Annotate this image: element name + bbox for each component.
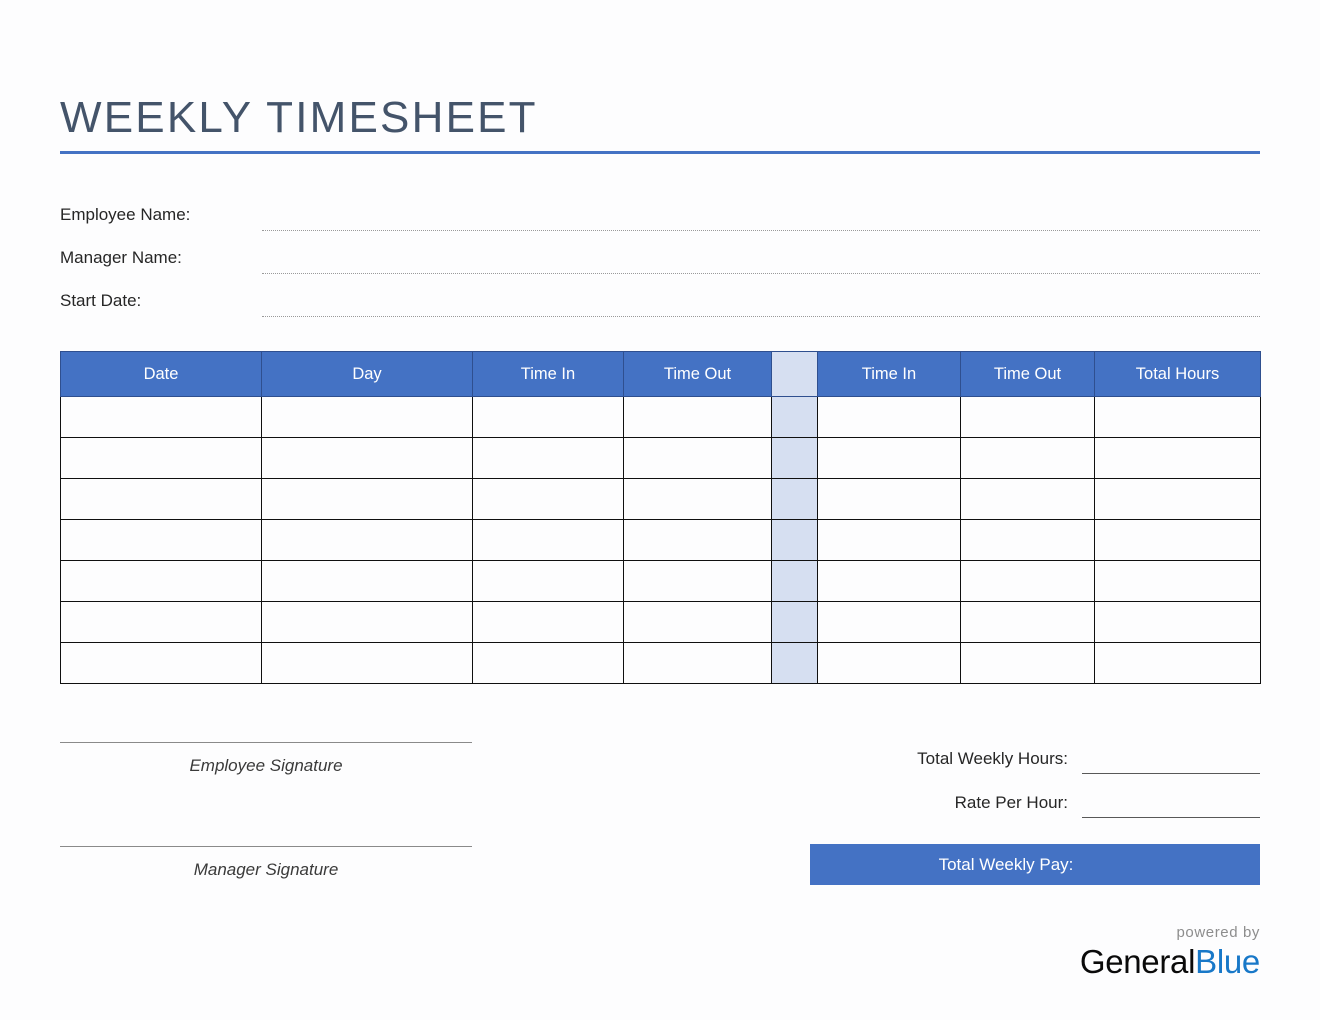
title-divider bbox=[60, 151, 1260, 154]
cell-time-in-1[interactable] bbox=[473, 602, 624, 643]
cell-day[interactable] bbox=[262, 397, 473, 438]
cell-time-out-2[interactable] bbox=[961, 561, 1095, 602]
cell-time-in-1[interactable] bbox=[473, 397, 624, 438]
employee-name-label: Employee Name: bbox=[60, 205, 262, 231]
cell-spacer bbox=[772, 479, 818, 520]
cell-time-out-2[interactable] bbox=[961, 520, 1095, 561]
cell-day[interactable] bbox=[262, 479, 473, 520]
total-weekly-hours-label: Total Weekly Hours: bbox=[917, 749, 1082, 774]
cell-time-out-2[interactable] bbox=[961, 438, 1095, 479]
column-header-time-in-1[interactable]: Time In bbox=[473, 352, 624, 397]
cell-time-in-2[interactable] bbox=[818, 520, 961, 561]
timesheet-table: Date Day Time In Time Out Time In Time O… bbox=[60, 351, 1261, 684]
column-header-time-out-1[interactable]: Time Out bbox=[624, 352, 772, 397]
rate-per-hour-label: Rate Per Hour: bbox=[955, 793, 1082, 818]
cell-date[interactable] bbox=[61, 602, 262, 643]
cell-day[interactable] bbox=[262, 602, 473, 643]
timesheet-table-container: Date Day Time In Time Out Time In Time O… bbox=[60, 351, 1260, 684]
info-row-start-date: Start Date: bbox=[60, 274, 1260, 317]
cell-date[interactable] bbox=[61, 561, 262, 602]
cell-time-in-2[interactable] bbox=[818, 397, 961, 438]
brand-name-general: General bbox=[1080, 943, 1195, 980]
cell-time-out-1[interactable] bbox=[624, 438, 772, 479]
table-row bbox=[61, 643, 1261, 684]
total-weekly-pay-bar[interactable]: Total Weekly Pay: bbox=[810, 844, 1260, 885]
table-row bbox=[61, 438, 1261, 479]
info-row-employee-name: Employee Name: bbox=[60, 188, 1260, 231]
manager-name-input[interactable] bbox=[262, 249, 1260, 274]
cell-date[interactable] bbox=[61, 479, 262, 520]
brand-name-blue: Blue bbox=[1195, 943, 1260, 980]
cell-spacer bbox=[772, 520, 818, 561]
table-header-row: Date Day Time In Time Out Time In Time O… bbox=[61, 352, 1261, 397]
column-header-time-in-2[interactable]: Time In bbox=[818, 352, 961, 397]
table-row bbox=[61, 397, 1261, 438]
employee-name-input[interactable] bbox=[262, 206, 1260, 231]
cell-total-hours[interactable] bbox=[1095, 397, 1261, 438]
start-date-label: Start Date: bbox=[60, 291, 262, 317]
document-header: WEEKLY TIMESHEET bbox=[60, 0, 1260, 154]
totals-section: Total Weekly Hours: Rate Per Hour: Total… bbox=[806, 730, 1260, 885]
cell-time-out-2[interactable] bbox=[961, 479, 1095, 520]
cell-spacer bbox=[772, 438, 818, 479]
cell-date[interactable] bbox=[61, 397, 262, 438]
cell-spacer bbox=[772, 397, 818, 438]
employee-signature-label: Employee Signature bbox=[60, 756, 472, 776]
timesheet-page: WEEKLY TIMESHEET Employee Name: Manager … bbox=[0, 0, 1320, 1020]
manager-signature-group: Manager Signature bbox=[60, 846, 472, 880]
cell-day[interactable] bbox=[262, 561, 473, 602]
column-header-date[interactable]: Date bbox=[61, 352, 262, 397]
cell-time-in-2[interactable] bbox=[818, 643, 961, 684]
manager-name-label: Manager Name: bbox=[60, 248, 262, 274]
column-header-day[interactable]: Day bbox=[262, 352, 473, 397]
start-date-input[interactable] bbox=[262, 292, 1260, 317]
cell-day[interactable] bbox=[262, 438, 473, 479]
column-header-time-out-2[interactable]: Time Out bbox=[961, 352, 1095, 397]
cell-time-in-1[interactable] bbox=[473, 438, 624, 479]
signatures-section: Employee Signature Manager Signature bbox=[60, 730, 472, 880]
cell-time-out-1[interactable] bbox=[624, 520, 772, 561]
footer-section: Employee Signature Manager Signature Tot… bbox=[60, 730, 1260, 885]
cell-time-in-2[interactable] bbox=[818, 602, 961, 643]
employee-signature-input[interactable] bbox=[60, 742, 472, 743]
column-header-spacer bbox=[772, 352, 818, 397]
cell-time-out-2[interactable] bbox=[961, 602, 1095, 643]
cell-total-hours[interactable] bbox=[1095, 438, 1261, 479]
generalblue-wordmark: GeneralBlue bbox=[1080, 945, 1260, 978]
total-weekly-hours-input[interactable] bbox=[1082, 751, 1260, 774]
cell-day[interactable] bbox=[262, 520, 473, 561]
cell-total-hours[interactable] bbox=[1095, 520, 1261, 561]
info-row-manager-name: Manager Name: bbox=[60, 231, 1260, 274]
cell-time-out-1[interactable] bbox=[624, 602, 772, 643]
total-weekly-pay-label: Total Weekly Pay: bbox=[810, 855, 1260, 875]
rate-per-hour-input[interactable] bbox=[1082, 795, 1260, 818]
cell-spacer bbox=[772, 643, 818, 684]
cell-day[interactable] bbox=[262, 643, 473, 684]
table-row bbox=[61, 602, 1261, 643]
cell-time-in-2[interactable] bbox=[818, 561, 961, 602]
page-title: WEEKLY TIMESHEET bbox=[60, 92, 1260, 144]
employee-signature-group: Employee Signature bbox=[60, 742, 472, 776]
cell-spacer bbox=[772, 561, 818, 602]
employee-info-section: Employee Name: Manager Name: Start Date: bbox=[60, 188, 1260, 317]
cell-time-in-1[interactable] bbox=[473, 561, 624, 602]
rate-per-hour-row: Rate Per Hour: bbox=[806, 774, 1260, 818]
cell-time-out-1[interactable] bbox=[624, 643, 772, 684]
cell-total-hours[interactable] bbox=[1095, 643, 1261, 684]
cell-time-in-2[interactable] bbox=[818, 479, 961, 520]
cell-time-out-1[interactable] bbox=[624, 479, 772, 520]
cell-total-hours[interactable] bbox=[1095, 602, 1261, 643]
table-row bbox=[61, 520, 1261, 561]
total-weekly-hours-row: Total Weekly Hours: bbox=[806, 730, 1260, 774]
brand-logo: powered by GeneralBlue bbox=[1080, 925, 1260, 978]
cell-time-in-1[interactable] bbox=[473, 520, 624, 561]
table-body bbox=[61, 397, 1261, 684]
cell-date[interactable] bbox=[61, 438, 262, 479]
column-header-total-hours[interactable]: Total Hours bbox=[1095, 352, 1261, 397]
cell-time-in-1[interactable] bbox=[473, 643, 624, 684]
cell-time-in-2[interactable] bbox=[818, 438, 961, 479]
cell-time-out-2[interactable] bbox=[961, 397, 1095, 438]
manager-signature-input[interactable] bbox=[60, 846, 472, 847]
cell-date[interactable] bbox=[61, 520, 262, 561]
powered-by-label: powered by bbox=[1080, 925, 1260, 940]
table-row bbox=[61, 561, 1261, 602]
cell-total-hours[interactable] bbox=[1095, 479, 1261, 520]
cell-time-out-1[interactable] bbox=[624, 397, 772, 438]
cell-time-in-1[interactable] bbox=[473, 479, 624, 520]
cell-time-out-1[interactable] bbox=[624, 561, 772, 602]
cell-spacer bbox=[772, 602, 818, 643]
cell-total-hours[interactable] bbox=[1095, 561, 1261, 602]
cell-date[interactable] bbox=[61, 643, 262, 684]
table-row bbox=[61, 479, 1261, 520]
manager-signature-label: Manager Signature bbox=[60, 860, 472, 880]
cell-time-out-2[interactable] bbox=[961, 643, 1095, 684]
